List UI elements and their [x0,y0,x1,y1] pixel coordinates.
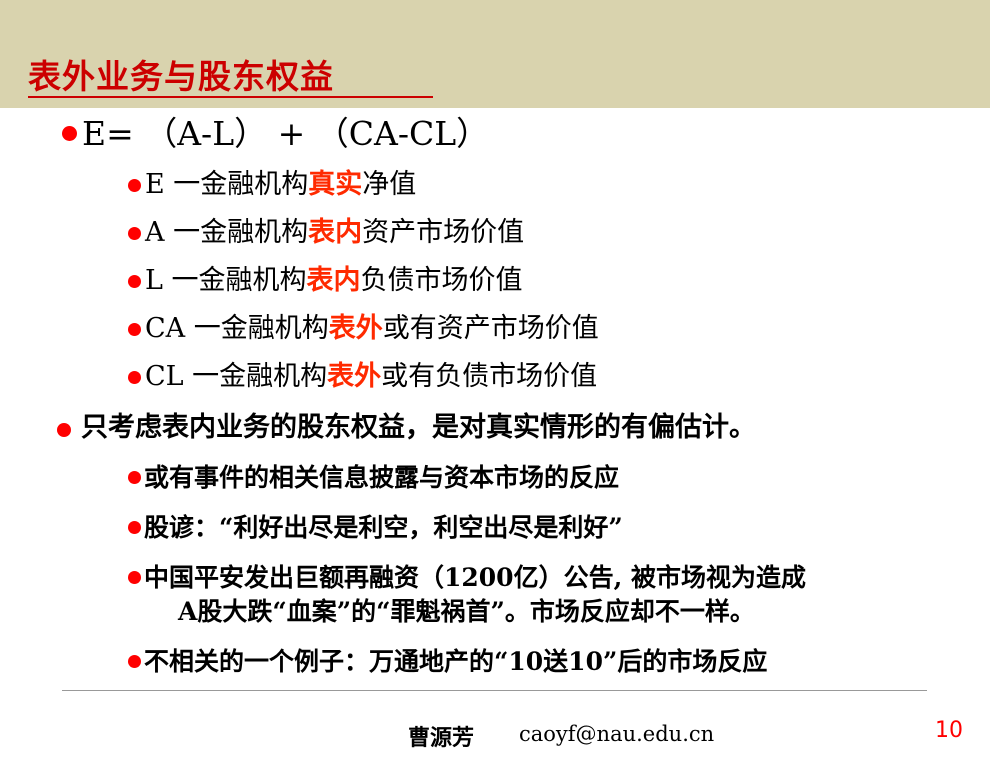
bullet-dot-icon [128,323,141,336]
bullet-dot-icon [128,571,141,584]
bullet-dot-icon [62,126,77,141]
formula-text: E= （A-L） + （CA-CL） [82,114,489,154]
definition-text: CA 一金融机构表外或有资产市场价值 [145,312,599,346]
title-banner: 表外业务与股东权益 [0,0,990,108]
definition-text: L 一金融机构表内负债市场价值 [145,264,523,298]
bullet-dot-icon [128,471,141,484]
formula-row: E= （A-L） + （CA-CL） [62,114,990,154]
definition-row: L 一金融机构表内负债市场价值 [128,264,990,298]
bullet-dot-icon [128,227,141,240]
title-underline [28,96,433,98]
page-title: 表外业务与股东权益 [28,50,334,98]
footer-email: caoyf@nau.edu.cn [519,722,714,746]
definition-text: A 一金融机构表内资产市场价值 [145,216,524,250]
sub-point-text: 中国平安发出巨额再融资（1200亿）公告, 被市场视为造成A股大跌“血案”的“罪… [144,561,806,629]
page-number: 10 [935,718,963,743]
bullet-dot-icon [128,521,141,534]
sub-point-row: 不相关的一个例子：万通地产的“10送10”后的市场反应 [128,645,990,679]
sub-point-row: 中国平安发出巨额再融资（1200亿）公告, 被市场视为造成A股大跌“血案”的“罪… [128,561,990,629]
definition-row: E 一金融机构真实净值 [128,168,990,202]
bullet-dot-icon [128,275,141,288]
sub-point-text: 股谚：“利好出尽是利空，利空出尽是利好” [144,511,623,545]
definition-text: E 一金融机构真实净值 [145,168,416,202]
sub-point-row: 或有事件的相关信息披露与资本市场的反应 [128,461,990,495]
sub-point-text: 不相关的一个例子：万通地产的“10送10”后的市场反应 [144,645,767,679]
bullet-dot-icon [128,371,141,384]
sub-point-row: 股谚：“利好出尽是利空，利空出尽是利好” [128,511,990,545]
footer-divider [62,690,927,691]
footer-author: 曹源芳 [408,720,474,752]
statement-row: 只考虑表内业务的股东权益，是对真实情形的有偏估计。 [57,411,990,445]
sub-point-text: 或有事件的相关信息披露与资本市场的反应 [144,461,619,495]
definition-row: A 一金融机构表内资产市场价值 [128,216,990,250]
bullet-dot-icon [128,179,141,192]
bullet-dot-icon [128,655,141,668]
definition-row: CA 一金融机构表外或有资产市场价值 [128,312,990,346]
statement-text: 只考虑表内业务的股东权益，是对真实情形的有偏估计。 [81,411,756,445]
definition-text: CL 一金融机构表外或有负债市场价值 [145,360,597,394]
definition-row: CL 一金融机构表外或有负债市场价值 [128,360,990,394]
slide-content: E= （A-L） + （CA-CL） E 一金融机构真实净值 A 一金融机构表内… [0,108,990,679]
bullet-dot-icon [57,423,71,437]
